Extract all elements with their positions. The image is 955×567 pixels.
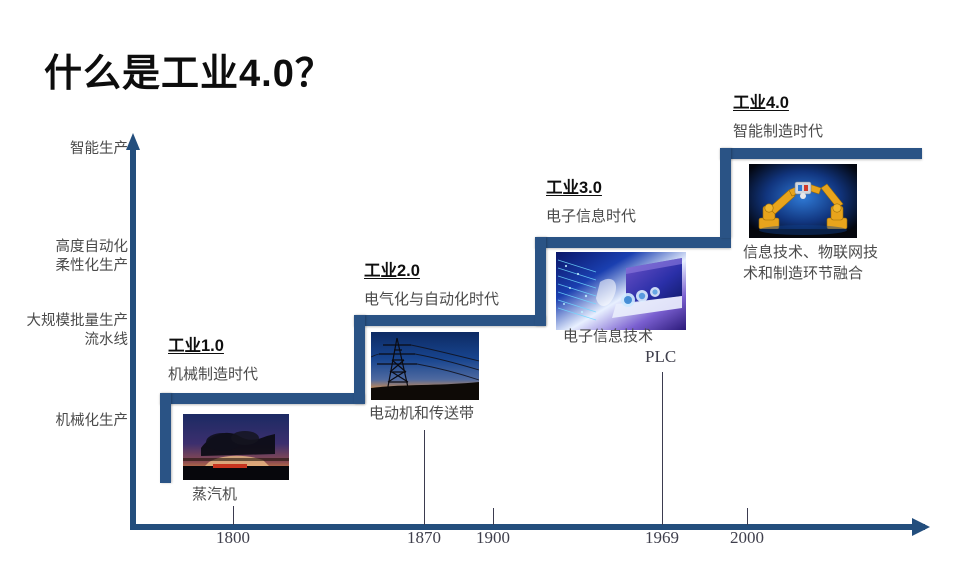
- stair-tread-4: [720, 148, 922, 159]
- industry-3-leader-line: [662, 372, 663, 520]
- industry-2-title: 工业2.0: [364, 257, 499, 281]
- stair-riser-3: [535, 237, 546, 326]
- industry-3-caption-secondary: PLC: [645, 346, 676, 367]
- robot-arms-photo: [749, 164, 857, 238]
- x-axis-year-1969: 1969: [645, 528, 679, 548]
- y-axis: [130, 148, 136, 530]
- industry-3-caption: 电子信息技术: [563, 326, 653, 347]
- electronics-laptop-photo: [556, 252, 686, 330]
- page-title: 什么是工业4.0？: [44, 42, 334, 97]
- x-axis-year-2000: 2000: [730, 528, 764, 548]
- infographic-canvas: 什么是工业4.0？ 智能生产高度自动化 柔性化生产大规模批量生产 流水线机械化生…: [0, 0, 955, 567]
- power-pylon-photo: [371, 332, 479, 400]
- industry-1-heading: 工业1.0机械制造时代: [168, 332, 258, 384]
- x-axis-year-1870: 1870: [407, 528, 441, 548]
- industry-2-caption: 电动机和传送带: [369, 403, 474, 424]
- stair-tread-2: [354, 315, 546, 326]
- industry-4-subtitle: 智能制造时代: [733, 120, 823, 141]
- x-axis-arrowhead: [912, 518, 930, 536]
- y-axis-arrowhead: [126, 133, 140, 150]
- industry-2-leader-line: [424, 430, 425, 520]
- industry-3-title: 工业3.0: [546, 174, 636, 198]
- stair-tread-3: [535, 237, 731, 248]
- y-axis-label-2: 大规模批量生产 流水线: [2, 312, 128, 350]
- x-axis-tick-1900: [493, 508, 494, 525]
- industry-1-leader-line: [233, 506, 234, 520]
- industry-2-heading: 工业2.0电气化与自动化时代: [364, 257, 499, 309]
- stair-riser-2: [354, 315, 365, 404]
- y-axis-label-0: 智能生产: [40, 140, 128, 159]
- industry-4-title: 工业4.0: [733, 89, 823, 113]
- x-axis-year-1800: 1800: [216, 528, 250, 548]
- y-axis-label-3: 机械化生产: [28, 412, 128, 431]
- steam-locomotive-photo: [183, 414, 289, 480]
- industry-1-title: 工业1.0: [168, 332, 258, 356]
- x-axis-tick-2000: [747, 508, 748, 525]
- x-axis-year-1900: 1900: [476, 528, 510, 548]
- industry-1-caption: 蒸汽机: [192, 484, 237, 505]
- stair-riser-1: [160, 393, 171, 483]
- industry-3-heading: 工业3.0电子信息时代: [546, 174, 636, 226]
- y-axis-label-1: 高度自动化 柔性化生产: [20, 238, 128, 276]
- industry-2-subtitle: 电气化与自动化时代: [364, 288, 499, 309]
- industry-1-subtitle: 机械制造时代: [168, 363, 258, 384]
- industry-4-caption: 信息技术、物联网技 术和制造环节融合: [743, 242, 878, 284]
- stair-riser-4: [720, 148, 731, 238]
- industry-4-heading: 工业4.0智能制造时代: [733, 89, 823, 141]
- industry-3-subtitle: 电子信息时代: [546, 205, 636, 226]
- stair-tread-1: [160, 393, 365, 404]
